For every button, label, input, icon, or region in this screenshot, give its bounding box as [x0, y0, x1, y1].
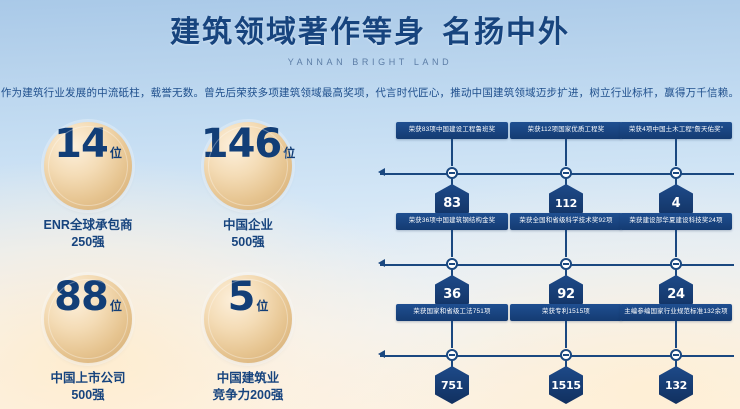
stat-label-line1: 中国上市公司 — [8, 370, 168, 387]
timeline-stem — [565, 230, 567, 257]
awards-timeline: 荣获83项中国建设工程鲁班奖 83 荣获112项国家优质工程奖 112 荣获4项… — [378, 122, 734, 395]
award-label: 荣获建设部华夏建设科技奖24项 — [620, 213, 732, 230]
award-badge-value: 1515 — [551, 379, 580, 392]
brand-subtitle: YANNAN BRIGHT LAND — [0, 57, 740, 67]
award-label: 荣获83项中国建设工程鲁班奖 — [396, 122, 508, 139]
page-title: 建筑领域著作等身名扬中外 — [0, 14, 740, 52]
stat-label-line2: 500强 — [168, 234, 328, 251]
timeline-stem — [675, 139, 677, 166]
stat-circle: 88 位 — [44, 275, 132, 363]
timeline-stem — [675, 230, 677, 257]
stats-grid: 14 位 ENR全球承包商 250强 146 位 中国企业 — [8, 122, 338, 404]
timeline-item[interactable]: 荣获36项中国建筑钢结构金奖 36 — [396, 213, 508, 230]
timeline-stem — [675, 321, 677, 348]
award-label: 主编参编国家行业规范标准132余项 — [620, 304, 732, 321]
timeline-row: 荣获国家和省级工法751项 751 荣获专利1515项 1515 主编参编国家行… — [378, 304, 734, 395]
award-label: 荣获112项国家优质工程奖 — [510, 122, 622, 139]
award-label: 荣获全国和省级科学技术奖92项 — [510, 213, 622, 230]
timeline-item[interactable]: 荣获专利1515项 1515 — [510, 304, 622, 321]
stat-label-line1: 中国建筑业 — [168, 370, 328, 387]
stat-card: 14 位 ENR全球承包商 250强 — [8, 122, 168, 251]
stat-label-line2: 500强 — [8, 387, 168, 404]
award-badge-value: 112 — [555, 197, 577, 210]
header: 建筑领域著作等身名扬中外 YANNAN BRIGHT LAND — [0, 14, 740, 67]
stat-card: 5 位 中国建筑业 竞争力200强 — [168, 275, 328, 404]
stat-unit: 位 — [283, 144, 295, 161]
stat-unit: 位 — [256, 297, 268, 314]
stats-row: 14 位 ENR全球承包商 250强 146 位 中国企业 — [8, 122, 338, 251]
stat-circle: 14 位 — [44, 122, 132, 210]
award-badge-value: 132 — [665, 379, 687, 392]
timeline-item[interactable]: 荣获国家和省级工法751项 751 — [396, 304, 508, 321]
stat-unit: 位 — [110, 144, 122, 161]
award-badge-value: 92 — [557, 287, 575, 302]
award-label: 荣获专利1515项 — [510, 304, 622, 321]
timeline-arrow-icon — [378, 168, 385, 176]
stat-number: 146 — [201, 122, 282, 166]
stat-card: 88 位 中国上市公司 500强 — [8, 275, 168, 404]
award-badge: 751 — [435, 366, 469, 404]
award-badge-value: 83 — [443, 196, 461, 211]
stat-label: 中国上市公司 500强 — [8, 370, 168, 404]
stat-label: 中国企业 500强 — [168, 217, 328, 251]
timeline-stem — [565, 321, 567, 348]
stat-card: 146 位 中国企业 500强 — [168, 122, 328, 251]
award-badge: 1515 — [549, 366, 583, 404]
award-label: 荣获国家和省级工法751项 — [396, 304, 508, 321]
page-title-right: 名扬中外 — [442, 16, 570, 49]
timeline-row: 荣获83项中国建设工程鲁班奖 83 荣获112项国家优质工程奖 112 荣获4项… — [378, 122, 734, 213]
stat-circle: 146 位 — [204, 122, 292, 210]
timeline-row: 荣获36项中国建筑钢结构金奖 36 荣获全国和省级科学技术奖92项 92 荣获建… — [378, 213, 734, 304]
timeline-stem — [451, 230, 453, 257]
timeline-item[interactable]: 荣获建设部华夏建设科技奖24项 24 — [620, 213, 732, 230]
stat-label: ENR全球承包商 250强 — [8, 217, 168, 251]
timeline-arrow-icon — [378, 259, 385, 267]
page-title-left: 建筑领域著作等身 — [170, 16, 426, 49]
timeline-stem — [451, 139, 453, 166]
promo-banner: 建筑领域著作等身名扬中外 YANNAN BRIGHT LAND 作为建筑行业发展… — [0, 0, 740, 409]
stats-row: 88 位 中国上市公司 500强 5 位 中国建筑业 — [8, 275, 338, 404]
award-badge-value: 36 — [443, 287, 461, 302]
stat-number: 14 — [54, 122, 108, 166]
stat-label-line1: ENR全球承包商 — [8, 217, 168, 234]
timeline-item[interactable]: 荣获83项中国建设工程鲁班奖 83 — [396, 122, 508, 139]
timeline-item[interactable]: 荣获112项国家优质工程奖 112 — [510, 122, 622, 139]
timeline-arrow-icon — [378, 350, 385, 358]
timeline-stem — [451, 321, 453, 348]
timeline-item[interactable]: 荣获4项中国土木工程“詹天佑奖” 4 — [620, 122, 732, 139]
timeline-item[interactable]: 主编参编国家行业规范标准132余项 132 — [620, 304, 732, 321]
stat-unit: 位 — [110, 297, 122, 314]
award-badge-value: 24 — [667, 287, 685, 302]
stat-label-line2: 竞争力200强 — [168, 387, 328, 404]
stat-number: 5 — [228, 275, 255, 319]
stat-number: 88 — [54, 275, 108, 319]
award-label: 荣获4项中国土木工程“詹天佑奖” — [620, 122, 732, 139]
award-badge: 132 — [659, 366, 693, 404]
stat-circle: 5 位 — [204, 275, 292, 363]
lead-paragraph: 作为建筑行业发展的中流砥柱，载誉无数。曾先后荣获多项建筑领域最高奖项，代言时代匠… — [0, 86, 740, 100]
timeline-stem — [565, 139, 567, 166]
award-badge-value: 4 — [672, 196, 681, 211]
award-label: 荣获36项中国建筑钢结构金奖 — [396, 213, 508, 230]
stat-label: 中国建筑业 竞争力200强 — [168, 370, 328, 404]
timeline-item[interactable]: 荣获全国和省级科学技术奖92项 92 — [510, 213, 622, 230]
award-badge-value: 751 — [441, 379, 463, 392]
stat-label-line2: 250强 — [8, 234, 168, 251]
stat-label-line1: 中国企业 — [168, 217, 328, 234]
